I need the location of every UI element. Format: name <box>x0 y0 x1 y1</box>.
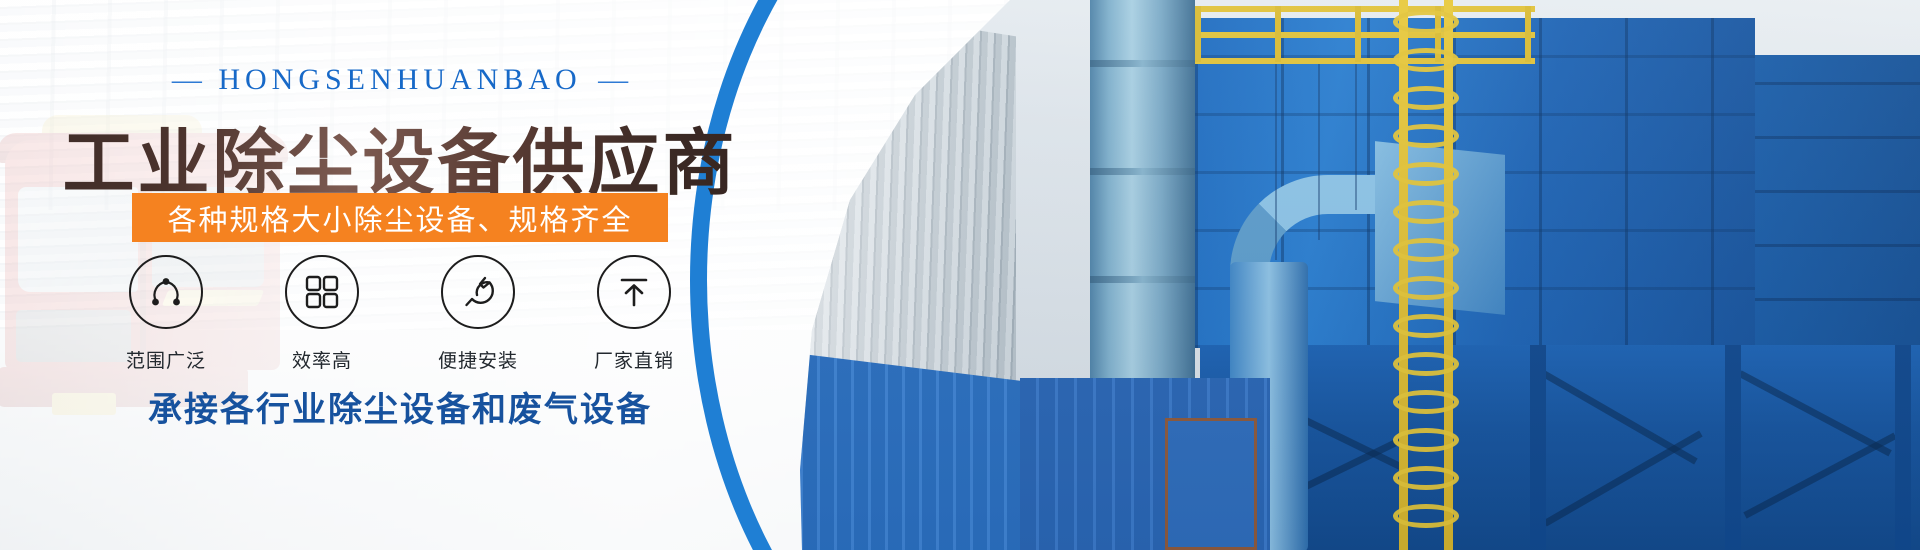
ribbon-text: 各种规格大小除尘设备、规格齐全 <box>167 197 632 239</box>
feature-label: 效率高 <box>292 346 352 373</box>
brand-eyebrow: — HONGSENHUANBAO — <box>0 63 800 97</box>
feature-item[interactable]: 效率高 <box>267 255 377 373</box>
orange-ribbon: 各种规格大小除尘设备、规格齐全 <box>132 193 668 242</box>
feature-label: 范围广泛 <box>126 346 206 373</box>
grid-squares-icon <box>285 255 359 329</box>
eyebrow-dash-left: — <box>168 63 206 96</box>
hero-banner: — HONGSENHUANBAO — 工业除尘设备供应商 各种规格大小除尘设备、… <box>0 0 1920 550</box>
feature-label: 便捷安装 <box>438 346 518 373</box>
eyebrow-text: HONGSENHUANBAO <box>218 63 581 96</box>
feature-item[interactable]: 便捷安装 <box>423 255 533 373</box>
tagline: 承接各行业除尘设备和废气设备 <box>0 382 800 431</box>
arrow-up-bar-icon <box>597 255 671 329</box>
feature-item[interactable]: 范围广泛 <box>111 255 221 373</box>
feature-list: 范围广泛 效率高 <box>0 255 800 373</box>
feature-label: 厂家直销 <box>594 346 674 373</box>
eyebrow-dash-right: — <box>594 63 632 96</box>
banner-content: — HONGSENHUANBAO — 工业除尘设备供应商 各种规格大小除尘设备、… <box>0 0 860 550</box>
scope-network-icon <box>129 255 203 329</box>
feature-item[interactable]: 厂家直销 <box>579 255 689 373</box>
wrench-icon <box>441 255 515 329</box>
